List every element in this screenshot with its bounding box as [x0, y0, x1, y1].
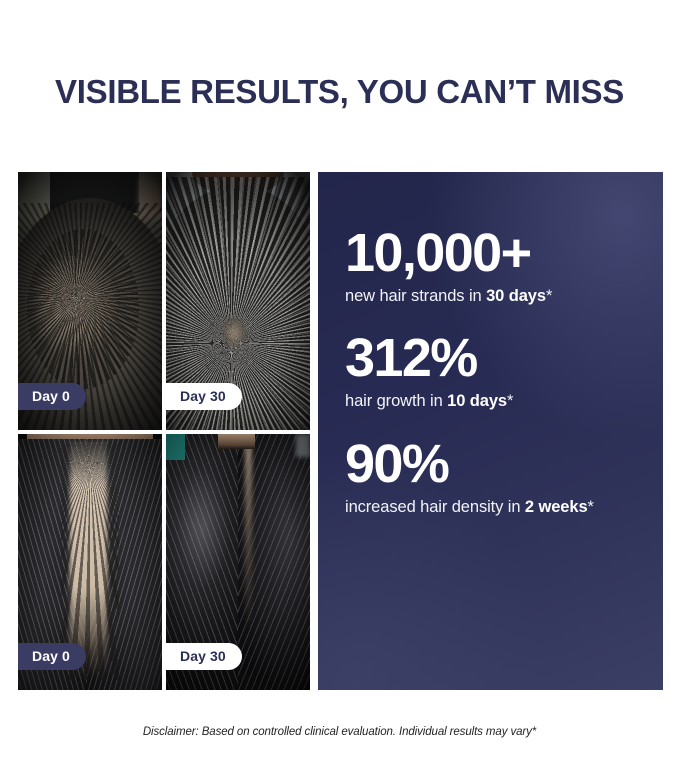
- stat-caption-emphasis: 10 days: [447, 392, 507, 410]
- stat-caption-suffix: *: [546, 287, 552, 305]
- stat-caption-prefix: increased hair density in: [345, 498, 525, 516]
- stat-caption: increased hair density in 2 weeks*: [345, 497, 649, 518]
- stat-caption: new hair strands in 30 days*: [345, 286, 649, 307]
- photo-after-crown[interactable]: Day 30: [166, 172, 310, 430]
- statistics-panel: 10,000+ new hair strands in 30 days* 312…: [318, 172, 663, 690]
- day-label-badge: Day 0: [18, 643, 86, 671]
- stat-item-hair-growth: 312% hair growth in 10 days*: [345, 331, 649, 412]
- stat-value: 10,000+: [345, 226, 649, 280]
- photo-before-crown[interactable]: Day 0: [18, 172, 162, 430]
- stat-caption-prefix: new hair strands in: [345, 287, 486, 305]
- stat-caption-suffix: *: [507, 392, 513, 410]
- day-label-badge: Day 30: [166, 383, 242, 411]
- before-after-photo-grid: Day 0 Day 30: [18, 172, 310, 690]
- photo-before-parting[interactable]: Day 0: [18, 434, 162, 690]
- stat-caption-prefix: hair growth in: [345, 392, 447, 410]
- day-label-badge: Day 0: [18, 383, 86, 411]
- day-label-badge: Day 30: [166, 643, 242, 671]
- stat-item-hair-density: 90% increased hair density in 2 weeks*: [345, 437, 649, 518]
- stat-caption: hair growth in 10 days*: [345, 391, 649, 412]
- results-content: Day 0 Day 30: [18, 172, 663, 690]
- photo-after-parting[interactable]: Day 30: [166, 434, 310, 690]
- stat-value: 312%: [345, 331, 649, 385]
- stat-caption-suffix: *: [588, 498, 594, 516]
- stat-caption-emphasis: 30 days: [486, 287, 546, 305]
- stat-value: 90%: [345, 437, 649, 491]
- stat-item-hair-strands: 10,000+ new hair strands in 30 days*: [345, 226, 649, 307]
- statistics-list: 10,000+ new hair strands in 30 days* 312…: [345, 226, 649, 518]
- disclaimer-text: Disclaimer: Based on controlled clinical…: [0, 726, 679, 738]
- stat-caption-emphasis: 2 weeks: [525, 498, 588, 516]
- page-title: VISIBLE RESULTS, YOU CAN’T MISS: [0, 74, 679, 110]
